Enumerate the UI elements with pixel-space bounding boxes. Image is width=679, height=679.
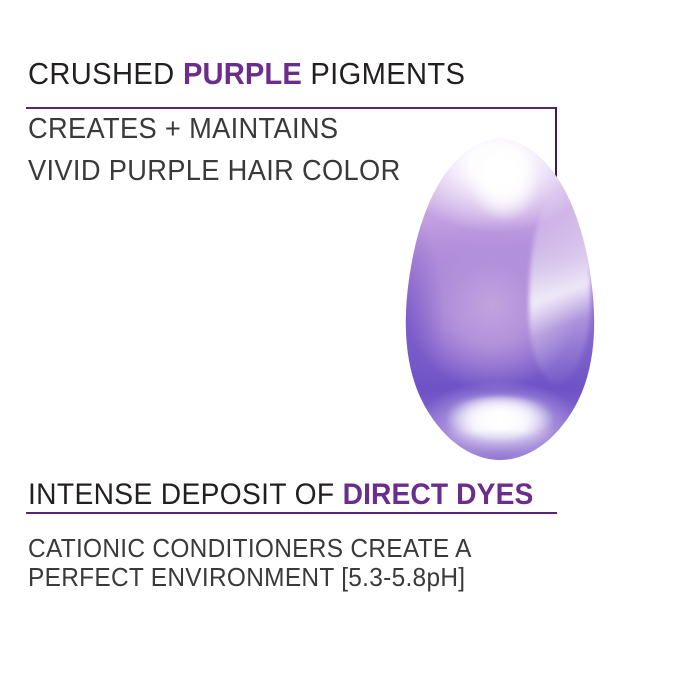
bottom-headline-accent: DIRECT DYES: [343, 478, 534, 511]
droplet-apex-glow: [459, 138, 550, 219]
top-headline-before: CRUSHED: [28, 56, 183, 91]
purple-droplet-graphic: [397, 138, 603, 460]
infographic-canvas: CRUSHED PURPLE PIGMENTS CREATES + MAINTA…: [0, 0, 679, 679]
droplet-right-gloss-highlight: [529, 196, 591, 383]
top-divider-rule: [26, 107, 557, 109]
droplet-shape: [397, 138, 603, 460]
top-headline-accent: PURPLE: [183, 56, 302, 91]
top-headline: CRUSHED PURPLE PIGMENTS: [28, 56, 465, 92]
bottom-subline-2: PERFECT ENVIRONMENT [5.3-5.8pH]: [28, 562, 465, 593]
bottom-divider-rule: [26, 512, 557, 514]
top-subline-2: VIVID PURPLE HAIR COLOR: [28, 155, 401, 188]
top-headline-after: PIGMENTS: [302, 56, 465, 91]
bottom-headline-before: INTENSE DEPOSIT OF: [28, 478, 343, 511]
bottom-subline-1: CATIONIC CONDITIONERS CREATE A: [28, 533, 472, 564]
top-subline-1: CREATES + MAINTAINS: [28, 113, 338, 146]
droplet-foot-shadow: [413, 421, 586, 460]
bottom-headline: INTENSE DEPOSIT OF DIRECT DYES: [28, 478, 533, 512]
